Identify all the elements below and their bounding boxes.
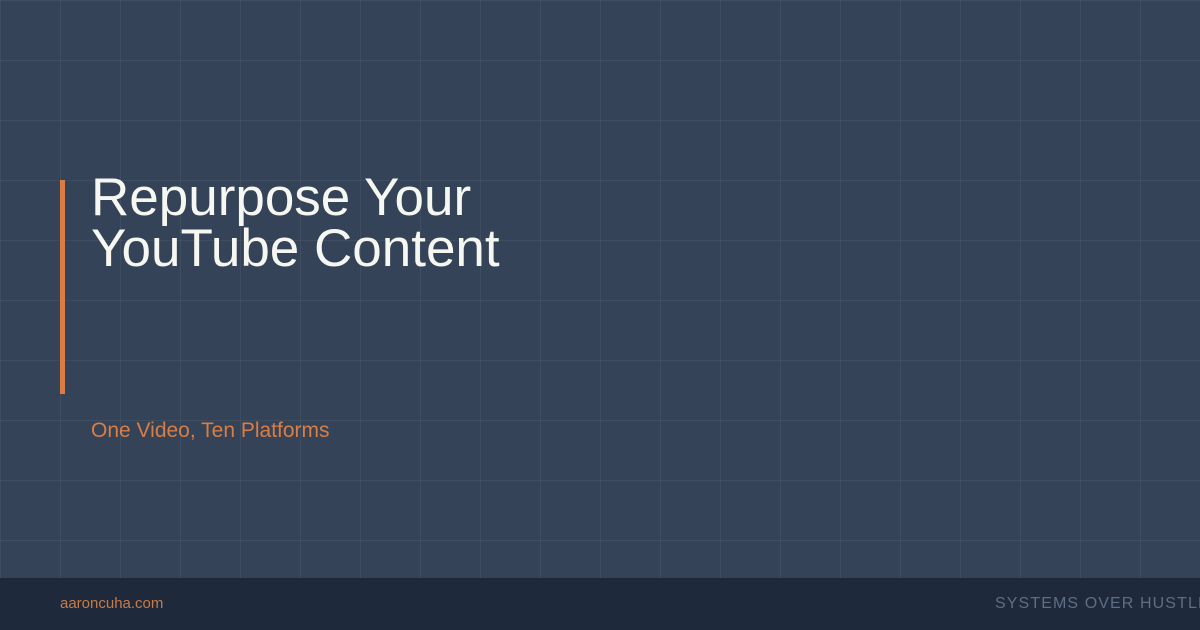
accent-bar (60, 180, 65, 394)
slide-footer: aaroncuha.com SYSTEMS OVER HUSTLE (0, 578, 1200, 630)
footer-website-link[interactable]: aaroncuha.com (60, 594, 163, 614)
slide-title: Repurpose Your YouTube Content (91, 172, 500, 274)
presentation-slide: Repurpose Your YouTube Content One Video… (0, 0, 1200, 630)
slide-subtitle: One Video, Ten Platforms (91, 417, 330, 445)
footer-tagline: SYSTEMS OVER HUSTLE (995, 594, 1200, 614)
slide-content: Repurpose Your YouTube Content One Video… (0, 0, 1200, 578)
